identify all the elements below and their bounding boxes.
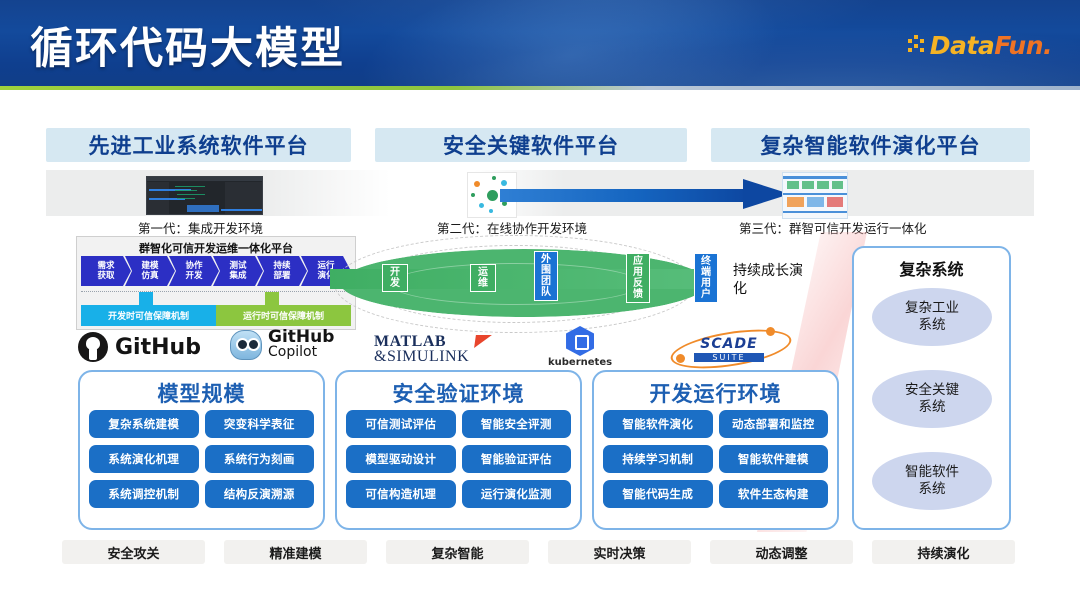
- header-divider: [0, 86, 1080, 90]
- logo-text-data: Data: [930, 31, 994, 60]
- chip[interactable]: 复杂系统建模: [89, 410, 199, 438]
- capability-panel-model-scale: 模型规模 复杂系统建模 突变科学表征 系统演化机理 系统行为刻画 系统调控机制 …: [78, 370, 325, 530]
- chip[interactable]: 智能代码生成: [603, 480, 713, 508]
- chip[interactable]: 运行演化监测: [462, 480, 572, 508]
- logo-text-fun: Fun.: [994, 31, 1052, 60]
- chip[interactable]: 持续学习机制: [603, 445, 713, 473]
- footer-tag-5: 持续演化: [872, 540, 1015, 564]
- panel-title: 模型规模: [80, 378, 323, 408]
- capability-panel-safety-verification: 安全验证环境 可信测试评估 智能安全评测 模型驱动设计 智能验证评估 可信构造机…: [335, 370, 582, 530]
- stage-line1: 建模: [141, 261, 158, 271]
- platform-header-industrial: 先进工业系统软件平台: [46, 128, 351, 162]
- workflow-stage-3[interactable]: 测试 集成: [213, 256, 263, 286]
- generation-label-1: 第一代：集成开发环境: [138, 218, 263, 237]
- panel-chip-grid: 复杂系统建模 突变科学表征 系统演化机理 系统行为刻画 系统调控机制 结构反演溯…: [89, 410, 314, 508]
- evolution-arrow-icon: [500, 183, 790, 207]
- scade-dot-icon: [766, 327, 775, 336]
- capability-panel-dev-runtime: 开发运行环境 智能软件演化 动态部署和监控 持续学习机制 智能软件建模 智能代码…: [592, 370, 839, 530]
- copilot-label-bottom: Copilot: [268, 345, 334, 360]
- datafun-logo: DataFun.: [908, 30, 1052, 60]
- platform-header-safety: 安全关键软件平台: [375, 128, 687, 162]
- logo-text: DataFun.: [930, 31, 1052, 60]
- scade-sub-label: SUITE: [694, 353, 764, 362]
- chip[interactable]: 智能安全评测: [462, 410, 572, 438]
- footer-tag-1: 精准建模: [224, 540, 367, 564]
- github-copilot-logo: GitHub Copilot: [230, 330, 334, 360]
- kubernetes-icon: [566, 326, 594, 356]
- pipeline-node-ops[interactable]: 运维: [470, 264, 496, 292]
- page-title: 循环代码大模型: [30, 14, 345, 76]
- matlab-label: MATLAB: [374, 334, 469, 349]
- chip[interactable]: 可信构造机理: [346, 480, 456, 508]
- stage-line1: 需求: [97, 261, 114, 271]
- chip[interactable]: 智能软件建模: [719, 445, 829, 473]
- pipeline-node-dev[interactable]: 开发: [382, 264, 408, 292]
- scade-suite-logo: SCADE SUITE: [670, 328, 790, 368]
- copilot-label-top: GitHub: [268, 330, 334, 345]
- panel-chip-grid: 可信测试评估 智能安全评测 模型驱动设计 智能验证评估 可信构造机理 运行演化监…: [346, 410, 571, 508]
- kubernetes-logo: kubernetes: [548, 326, 612, 368]
- workflow-stage-2[interactable]: 协作 开发: [169, 256, 219, 286]
- panel-title: 开发运行环境: [594, 378, 837, 408]
- chip[interactable]: 突变科学表征: [205, 410, 315, 438]
- github-icon: [78, 332, 108, 362]
- kubernetes-label: kubernetes: [548, 357, 612, 368]
- pipeline-inner-ring: [390, 263, 642, 305]
- chip[interactable]: 动态部署和监控: [719, 410, 829, 438]
- chip[interactable]: 智能验证评估: [462, 445, 572, 473]
- stage-line1: 持续: [273, 261, 290, 271]
- chip[interactable]: 结构反演溯源: [205, 480, 315, 508]
- scade-dot-icon: [676, 354, 685, 363]
- collaboration-pipeline: 开发 运维 外围团队 应用反馈 终端用户: [330, 243, 730, 323]
- workflow-stage-1[interactable]: 建模 仿真: [125, 256, 175, 286]
- workflow-stage-row: 需求 获取 建模 仿真 协作 开发 测试 集成 持续 部署 运行 演化: [81, 256, 351, 286]
- panel-chip-grid: 智能软件演化 动态部署和监控 持续学习机制 智能软件建模 智能代码生成 软件生态…: [603, 410, 828, 508]
- workflow-divider: [81, 291, 351, 292]
- workflow-mechanism-row: 开发时可信保障机制 运行时可信保障机制: [81, 305, 351, 326]
- copilot-icon: [230, 330, 262, 360]
- scade-label: SCADE: [700, 336, 757, 352]
- stage-line2: 获取: [97, 271, 114, 281]
- workflow-title: 群智化可信开发运维一体化平台: [77, 240, 355, 256]
- stage-line2: 部署: [273, 271, 290, 281]
- stage-line2: 开发: [185, 271, 202, 281]
- github-label: GitHub: [115, 335, 201, 360]
- gen1-ide-thumbnail: [146, 176, 263, 215]
- system-ellipse-industrial[interactable]: 复杂工业系统: [872, 288, 992, 346]
- chip[interactable]: 系统行为刻画: [205, 445, 315, 473]
- chip[interactable]: 系统演化机理: [89, 445, 199, 473]
- stage-line1: 协作: [185, 261, 202, 271]
- mechanism-dev: 开发时可信保障机制: [81, 305, 216, 326]
- complex-system-panel: 复杂系统 复杂工业系统 安全关键系统 智能软件系统: [852, 246, 1011, 530]
- panel-title: 安全验证环境: [337, 378, 580, 408]
- pipeline-node-app-feedback[interactable]: 应用反馈: [626, 253, 650, 303]
- pipeline-node-end-user[interactable]: 终端用户: [694, 253, 718, 303]
- workflow-stage-0[interactable]: 需求 获取: [81, 256, 131, 286]
- footer-tag-4: 动态调整: [710, 540, 853, 564]
- run-up-arrow-icon: [265, 292, 279, 306]
- github-logo: GitHub: [78, 332, 201, 362]
- system-ellipse-intelligent[interactable]: 智能软件系统: [872, 452, 992, 510]
- chip[interactable]: 模型驱动设计: [346, 445, 456, 473]
- platform-header-intelligent: 复杂智能软件演化平台: [711, 128, 1030, 162]
- dev-up-arrow-icon: [139, 292, 153, 306]
- chip[interactable]: 可信测试评估: [346, 410, 456, 438]
- matlab-sail-icon: [474, 335, 492, 348]
- footer-tag-3: 实时决策: [548, 540, 691, 564]
- growth-evolution-label: 持续成长演化: [733, 262, 803, 298]
- workflow-platform-box: 群智化可信开发运维一体化平台 需求 获取 建模 仿真 协作 开发 测试 集成 持…: [76, 236, 356, 330]
- workflow-stage-4[interactable]: 持续 部署: [257, 256, 307, 286]
- footer-tag-0: 安全攻关: [62, 540, 205, 564]
- stage-line2: 集成: [229, 271, 246, 281]
- logo-dots-icon: [908, 35, 928, 55]
- page-header: 循环代码大模型 DataFun.: [0, 0, 1080, 90]
- simulink-label: &SIMULINK: [374, 349, 469, 364]
- pipeline-node-external-team[interactable]: 外围团队: [534, 251, 558, 301]
- system-ellipse-safety[interactable]: 安全关键系统: [872, 370, 992, 428]
- stage-line1: 测试: [229, 261, 246, 271]
- complex-system-title: 复杂系统: [854, 256, 1009, 280]
- chip[interactable]: 软件生态构建: [719, 480, 829, 508]
- gen3-platform-thumbnail: [782, 172, 848, 219]
- matlab-simulink-logo: MATLAB &SIMULINK: [374, 334, 469, 364]
- stage-line2: 仿真: [141, 271, 158, 281]
- footer-tag-2: 复杂智能: [386, 540, 529, 564]
- chip[interactable]: 智能软件演化: [603, 410, 713, 438]
- toolchain-logo-row: GitHub GitHub Copilot MATLAB &SIMULINK k…: [78, 328, 798, 372]
- chip[interactable]: 系统调控机制: [89, 480, 199, 508]
